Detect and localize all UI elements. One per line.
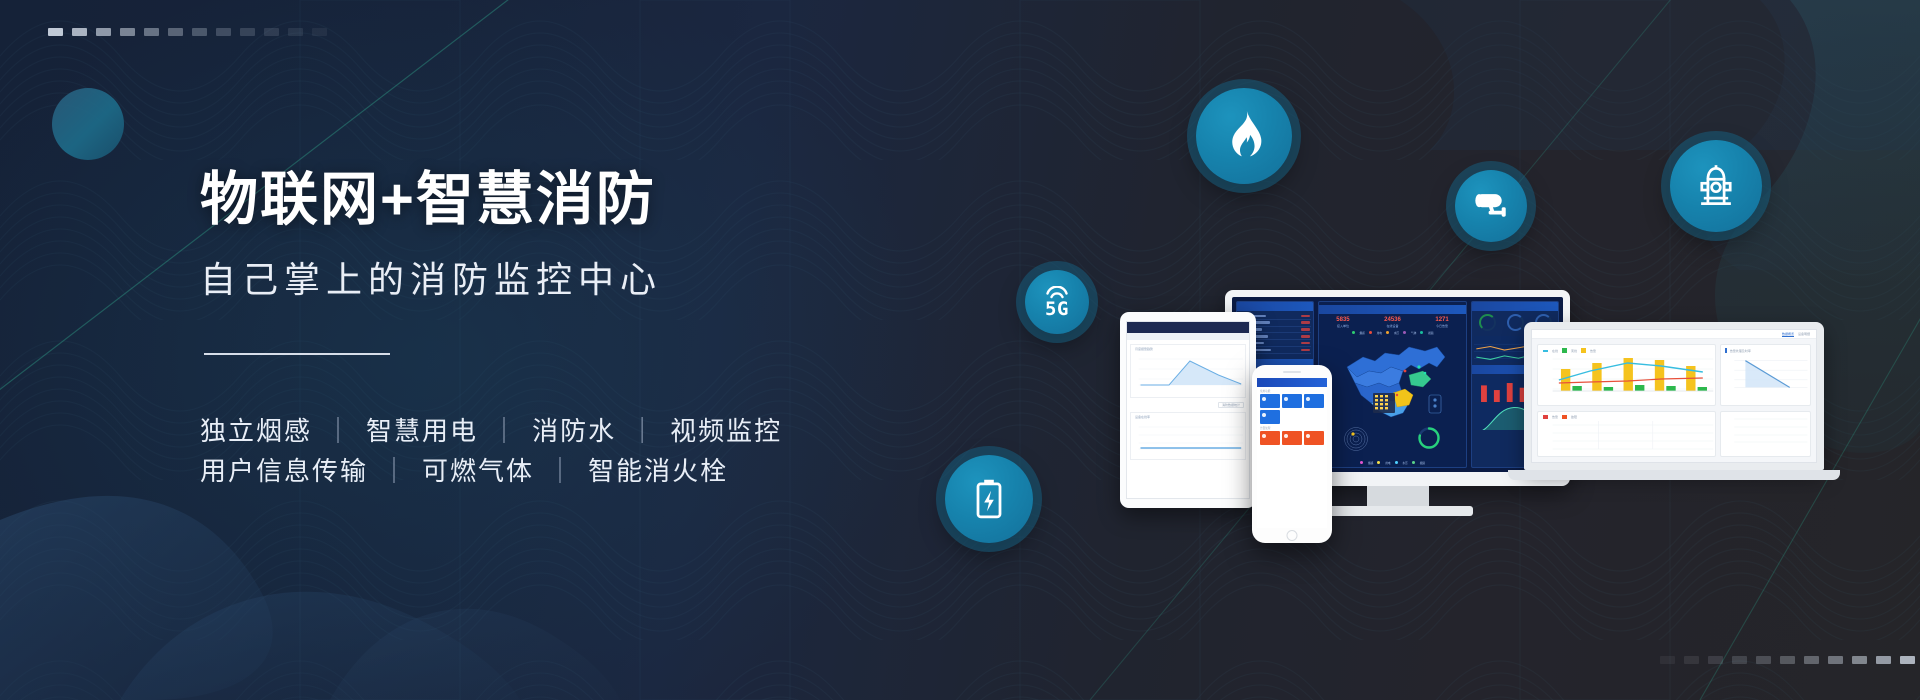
kpi-units: 5835 接入单位: [1336, 317, 1349, 328]
flame-icon: [1222, 111, 1266, 161]
monitor-base: [1323, 506, 1473, 516]
kpi-value: 24536: [1384, 317, 1401, 323]
device-laptop: 数据概览 设备明细 在线 离线 告警: [1524, 322, 1824, 502]
tile-icon: [1284, 434, 1288, 438]
banner-copy: 物联网+智慧消防 自己掌上的消防监控中心 独立烟感 ｜ 智慧用电 ｜ 消防水 ｜…: [200, 168, 960, 492]
badge-power[interactable]: [945, 455, 1033, 543]
tile-icon: [1262, 434, 1266, 438]
tab-overview[interactable]: 数据概览: [1782, 332, 1794, 337]
phone-speaker: [1283, 371, 1301, 373]
device-tablet: 月度报警趋势 消防数据统计 设备在线率: [1120, 312, 1256, 508]
kpi-label: 接入单位: [1336, 324, 1349, 328]
5g-label: 5G: [1045, 300, 1069, 319]
feature-item-transmission: 用户信息传输: [200, 451, 368, 491]
radar-chart: [1339, 425, 1373, 451]
feature-item-smoke: 独立烟感: [200, 411, 312, 451]
feature-separator: ｜: [629, 411, 657, 451]
legend-label: 气体: [1411, 331, 1416, 335]
feature-list: 独立烟感 ｜ 智慧用电 ｜ 消防水 ｜ 视频监控 用户信息传输 ｜ 可燃气体 ｜…: [200, 411, 960, 492]
phone-tile-grid-blue: [1257, 394, 1327, 408]
fire-hydrant-icon: [1695, 163, 1737, 209]
china-map: [1333, 337, 1453, 423]
line-chart: [1721, 353, 1810, 397]
tile-icon: [1284, 397, 1288, 401]
feature-item-gas: 可燃气体: [422, 451, 534, 491]
legend-label: 告警: [1590, 349, 1596, 353]
title-divider: [204, 353, 390, 355]
tile-icon: [1262, 397, 1266, 401]
radar-row: [1319, 425, 1466, 451]
legend-label: 在线: [1552, 349, 1558, 353]
feature-row-1: 独立烟感 ｜ 智慧用电 ｜ 消防水 ｜ 视频监控: [200, 411, 960, 451]
cctv-camera-icon: [1472, 190, 1510, 222]
area-chart: [1131, 351, 1245, 391]
legend-label: 烟感: [1360, 331, 1365, 335]
bar-line-chart: [1538, 353, 1715, 399]
grid-chart: [1538, 419, 1715, 453]
feature-separator: ｜: [547, 451, 575, 491]
legend-label: 用电: [1385, 461, 1390, 465]
phone-tile[interactable]: [1282, 394, 1302, 408]
tile-icon: [1262, 413, 1266, 417]
tile-icon: [1306, 434, 1310, 438]
laptop-chart-bottom-left: 告警 故障: [1537, 411, 1716, 457]
grid-chart: [1721, 412, 1810, 446]
phone-home-button[interactable]: [1287, 530, 1298, 541]
tablet-screen: 月度报警趋势 消防数据统计 设备在线率: [1126, 321, 1250, 499]
phone-tile-alert[interactable]: [1282, 431, 1302, 445]
kpi-label: 今日告警: [1435, 324, 1448, 328]
badge-hydrant[interactable]: [1670, 140, 1762, 232]
legend-label: 烟感: [1368, 461, 1373, 465]
tablet-subbar: [1127, 333, 1249, 340]
laptop-screen: 数据概览 设备明细 在线 离线 告警: [1531, 329, 1817, 463]
tab-details[interactable]: 设备明细: [1798, 332, 1810, 336]
laptop-chart-row: 在线 离线 告警: [1532, 339, 1816, 411]
feature-row-2: 用户信息传输 ｜ 可燃气体 ｜ 智能消火栓: [200, 451, 960, 491]
badge-5g[interactable]: 5G: [1025, 270, 1089, 334]
phone-tile-grid-orange: [1257, 431, 1327, 445]
badge-camera[interactable]: [1455, 170, 1527, 242]
decorative-circle: [52, 88, 124, 160]
legend-label: 用电: [1377, 331, 1382, 335]
legend-label: 水压: [1394, 331, 1399, 335]
laptop-chart-main: 在线 离线 告警: [1537, 344, 1716, 406]
tablet-toolbar: 消防数据统计: [1127, 402, 1249, 408]
legend-label: 离线: [1571, 349, 1577, 353]
line-chart: [1131, 419, 1245, 453]
gauge: [1479, 314, 1496, 331]
tablet-header: [1127, 322, 1249, 333]
battery-bolt-icon: [973, 477, 1005, 521]
feature-item-water: 消防水: [532, 411, 616, 451]
kpi-label: 在线设备: [1384, 324, 1401, 328]
phone-screen: 常用功能 告警处理: [1257, 378, 1327, 528]
phone-tile-grid-blue-2: [1257, 410, 1327, 424]
tile-icon: [1306, 397, 1310, 401]
legend-label: 视频: [1420, 461, 1425, 465]
tablet-button[interactable]: 消防数据统计: [1218, 402, 1244, 408]
phone-tile[interactable]: [1260, 410, 1280, 424]
chart-title-label: 告警处理及时率: [1730, 349, 1751, 353]
panel-header: [1319, 305, 1466, 314]
dashboard-panel-map: 5835 接入单位 24536 在线设备 1271 今日告警: [1318, 301, 1467, 468]
phone-tile-alert[interactable]: [1304, 431, 1324, 445]
kpi-alarms: 1271 今日告警: [1435, 317, 1448, 328]
badge-fire[interactable]: [1196, 88, 1292, 184]
chart-title: 告警处理及时率: [1721, 345, 1810, 353]
phone-tile-alert[interactable]: [1260, 431, 1280, 445]
legend-label: 视频: [1428, 331, 1433, 335]
laptop-chart-side: 告警处理及时率: [1720, 344, 1811, 406]
map-legend: 烟感 用电 水压 气体 视频: [1352, 331, 1434, 335]
dash-row-top-left: [48, 28, 327, 36]
laptop-lid: 数据概览 设备明细 在线 离线 告警: [1524, 322, 1824, 470]
kpi-devices: 24536 在线设备: [1384, 317, 1401, 328]
ring-gauge: [1412, 425, 1446, 451]
feature-item-hydrant: 智能消火栓: [588, 451, 728, 491]
5g-signal-icon: 5G: [1044, 286, 1070, 319]
laptop-base: [1508, 470, 1840, 480]
tablet-chart-2: 设备在线率: [1130, 412, 1246, 460]
feature-separator: ｜: [325, 411, 353, 451]
device-phone: 常用功能 告警处理: [1252, 365, 1332, 543]
laptop-chart-bottom-right: [1720, 411, 1811, 457]
legend-label: 水压: [1403, 461, 1408, 465]
laptop-tabbar: 数据概览 设备明细: [1532, 330, 1816, 339]
hero-banner: 物联网+智慧消防 自己掌上的消防监控中心 独立烟感 ｜ 智慧用电 ｜ 消防水 ｜…: [0, 0, 1920, 700]
kpi-value: 5835: [1336, 317, 1349, 323]
map-legend-bottom: 烟感 用电 水压 视频: [1360, 461, 1425, 465]
phone-header: [1257, 378, 1327, 387]
device-mockup-cluster: 5835 接入单位 24536 在线设备 1271 今日告警: [1120, 280, 1860, 580]
panel-header: [1472, 302, 1558, 311]
monitor-neck: [1367, 486, 1429, 508]
phone-section-2: 告警处理: [1257, 424, 1327, 431]
feature-separator: ｜: [381, 451, 409, 491]
dash-row-bottom-right: [1660, 656, 1920, 664]
banner-subtitle: 自己掌上的消防监控中心: [200, 258, 960, 301]
kpi-value: 1271: [1435, 317, 1448, 323]
phone-tile[interactable]: [1260, 394, 1280, 408]
phone-section-1: 常用功能: [1257, 387, 1327, 394]
gauge: [1507, 314, 1524, 331]
chart-legend: 告警 故障: [1538, 412, 1715, 419]
panel-header: [1237, 302, 1313, 311]
kpi-row: 5835 接入单位 24536 在线设备 1271 今日告警: [1319, 314, 1466, 330]
chart-legend: 在线 离线 告警: [1538, 345, 1715, 353]
feature-item-power: 智慧用电: [366, 411, 478, 451]
laptop-chart-row-2: 告警 故障: [1532, 411, 1816, 462]
feature-separator: ｜: [491, 411, 519, 451]
banner-title: 物联网+智慧消防: [200, 168, 960, 232]
tablet-chart-1: 月度报警趋势: [1130, 344, 1246, 398]
phone-tile[interactable]: [1304, 394, 1324, 408]
feature-item-video: 视频监控: [670, 411, 782, 451]
